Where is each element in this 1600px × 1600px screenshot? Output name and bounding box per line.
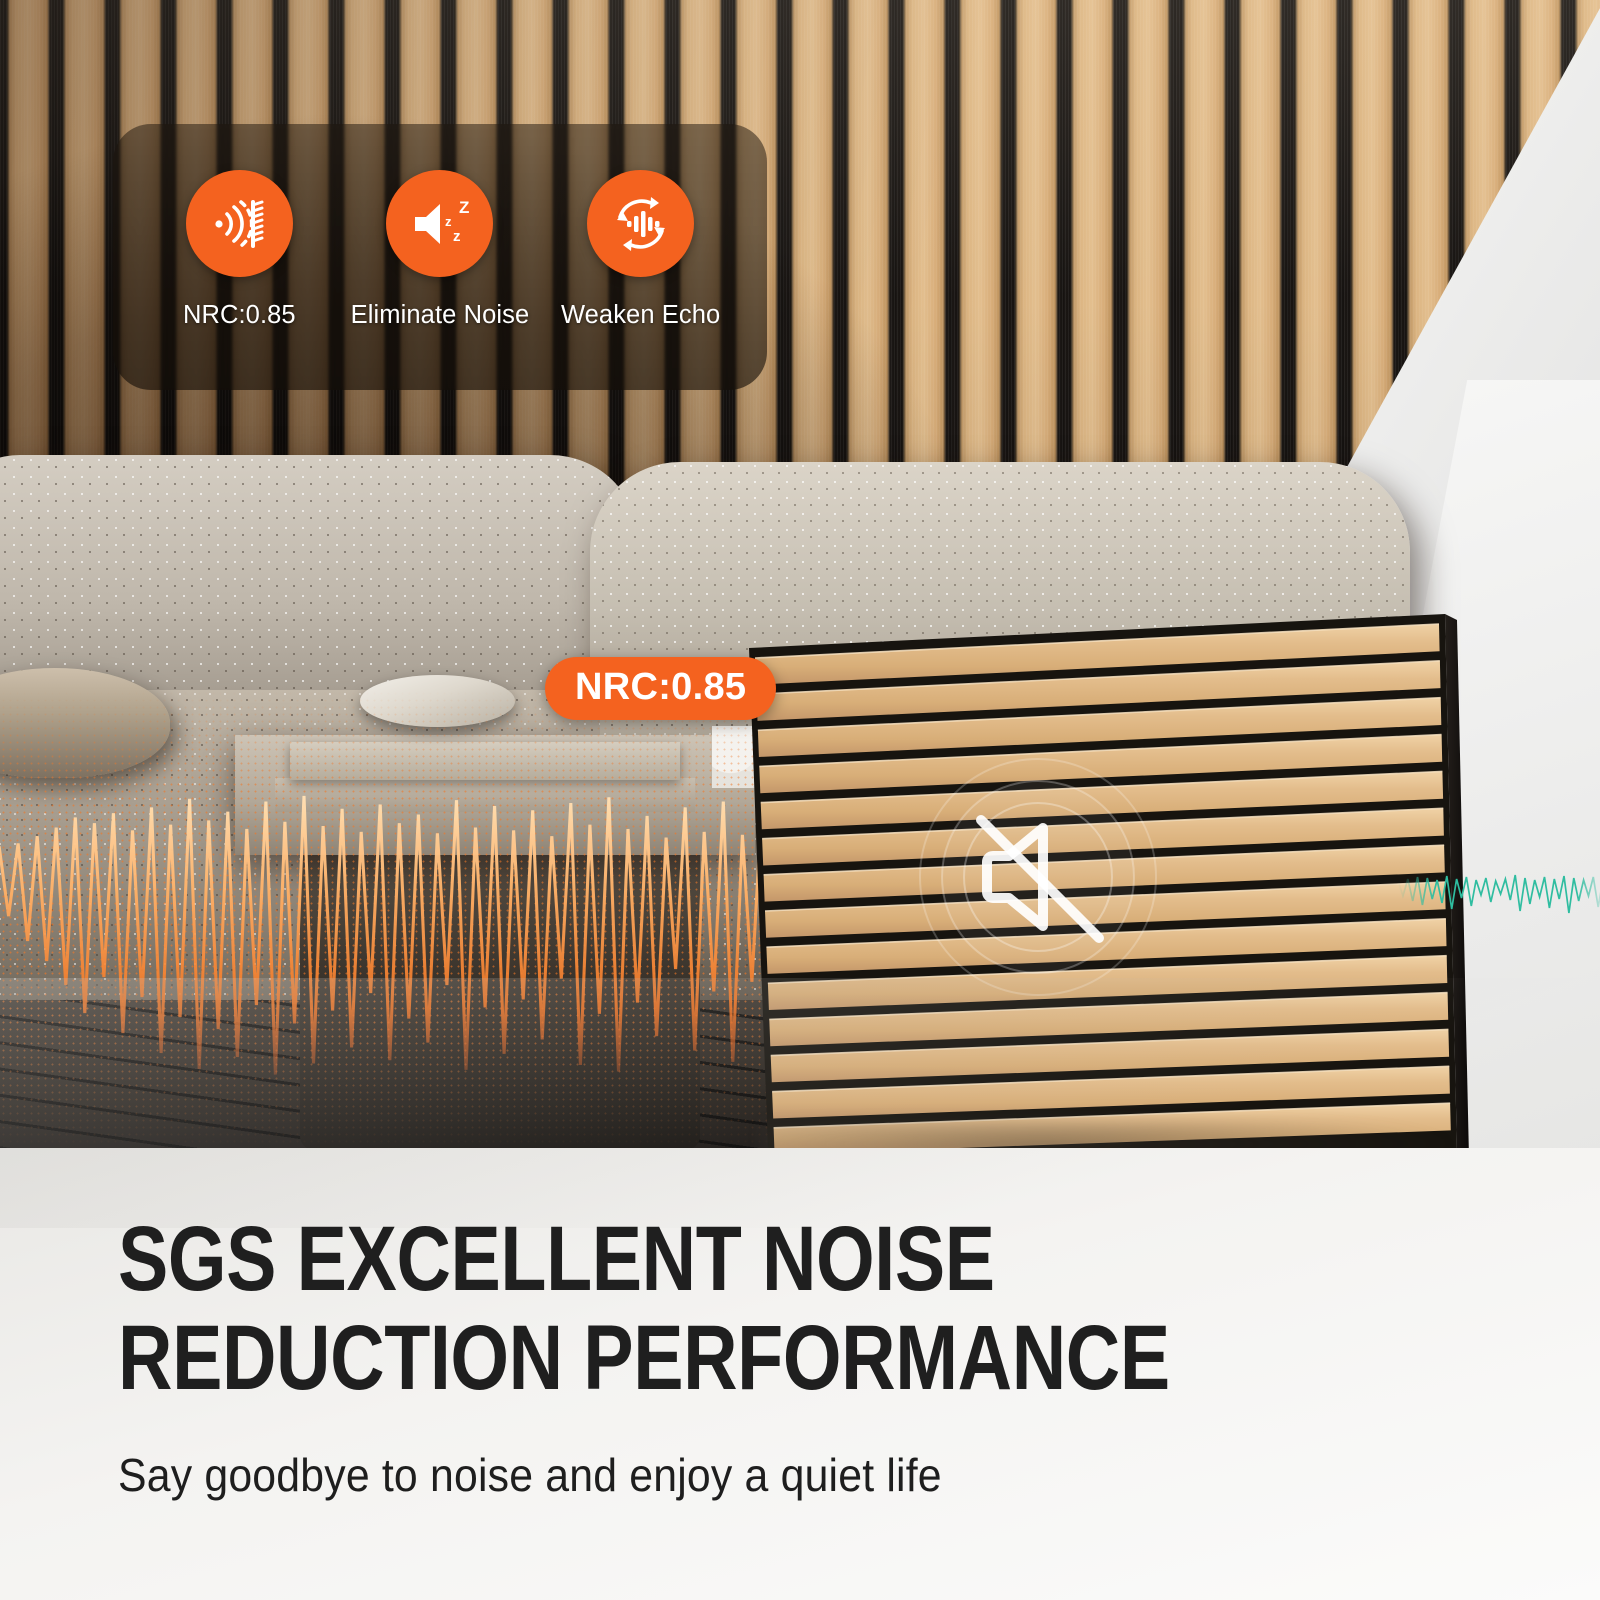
page-title: SGS EXCELLENT NOISE REDUCTION PERFORMANC… bbox=[118, 1210, 1184, 1409]
acoustic-panel-product[interactable] bbox=[735, 612, 1465, 1148]
feature-label: Weaken Echo bbox=[561, 301, 720, 330]
page-subtitle: Say goodbye to noise and enjoy a quiet l… bbox=[118, 1448, 942, 1502]
sound-absorption-icon bbox=[186, 170, 293, 277]
acoustic-panel-svg bbox=[735, 612, 1465, 1148]
feature-label: Eliminate Noise bbox=[351, 301, 530, 330]
echo-recycle-waveform-icon bbox=[587, 170, 694, 277]
feature-item-weaken-echo[interactable]: Weaken Echo bbox=[546, 170, 736, 330]
feature-item-nrc[interactable]: NRC:0.85 bbox=[144, 170, 334, 330]
svg-text:z: z bbox=[445, 214, 452, 229]
panel-floor-shadow bbox=[760, 1120, 1460, 1148]
feature-highlight-card: NRC:0.85 Z z z Eliminate Noise bbox=[113, 124, 767, 390]
bottom-text-section: SGS EXCELLENT NOISE REDUCTION PERFORMANC… bbox=[0, 1148, 1600, 1600]
mute-speaker-sleep-icon: Z z z bbox=[386, 170, 493, 277]
quiet-waveform bbox=[1398, 820, 1600, 950]
room-scene-photo: NRC:0.85 NRC:0.85 bbox=[0, 0, 1600, 1148]
svg-text:z: z bbox=[453, 228, 461, 245]
feature-item-eliminate-noise[interactable]: Z z z Eliminate Noise bbox=[345, 170, 535, 330]
svg-text:Z: Z bbox=[459, 198, 469, 217]
feature-label: NRC:0.85 bbox=[183, 301, 296, 330]
product-banner: NRC:0.85 NRC:0.85 bbox=[0, 0, 1600, 1600]
nrc-badge: NRC:0.85 bbox=[545, 657, 776, 720]
